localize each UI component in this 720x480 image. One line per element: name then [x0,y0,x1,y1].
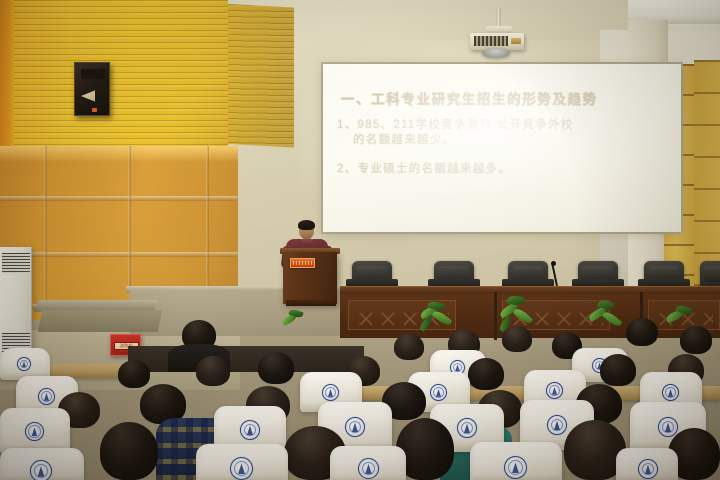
slide-bullet-1: 1、985、211学校竞争激烈,公开竞争外校 的名额越来越少。 [337,118,677,148]
wall-speaker [74,62,110,116]
university-logo-icon [25,422,44,441]
audience-head [468,358,504,390]
podium-nameplate-text [293,261,312,265]
speaker-led-icon [92,108,97,112]
university-logo-icon [662,384,679,401]
microphone-icon [551,261,556,266]
speaker-cone-icon [81,89,95,103]
university-logo-icon [230,457,253,480]
audience-head [502,326,532,352]
slide-title: 一、工科专业研究生招生的形势及趋势 [341,88,671,108]
potted-plant [418,300,454,336]
audience-head [258,352,294,384]
stage-riser [38,310,163,332]
podium-base [286,300,336,306]
university-logo-icon [38,388,55,405]
audience-head [680,326,712,354]
plant-leaf [513,306,533,325]
plant-leaf [432,309,453,328]
audience-head [394,334,424,360]
university-logo-icon [547,415,567,435]
projection-screen: 一、工科专业研究生招生的形势及趋势 1、985、211学校竞争激烈,公开竞争外校… [323,64,681,232]
panel-seam [0,196,238,201]
projector-lens-icon [482,48,510,58]
potted-plant [586,300,626,338]
university-logo-icon [322,384,339,401]
university-logo-icon [30,460,52,480]
audience-chair[interactable] [330,446,406,480]
audience-head [196,356,230,386]
audience-head [118,360,150,388]
wall-cove-light [0,146,238,162]
panel-seam [0,252,238,257]
slat-wall [0,0,228,152]
university-logo-icon [358,458,379,479]
university-logo-icon [17,357,31,371]
ac-vent-icon [2,253,30,273]
potted-plant [280,308,310,338]
lecture-hall-photo: 一、工科专业研究生招生的形势及趋势 1、985、211学校竞争激烈,公开竞争外校… [0,0,720,480]
university-logo-icon [457,418,477,438]
slat-wall-receding [228,4,294,147]
slat-wall-edge [0,0,14,152]
audience-head [100,422,158,480]
head-table-chair [700,261,720,287]
university-logo-icon [504,456,527,479]
air-conditioner-unit [0,247,32,357]
audience-chair[interactable] [196,444,288,480]
audience-chair[interactable] [470,442,562,480]
slide-bullet-2: 2、专业硕士的名额越来越多。 [337,160,677,176]
university-logo-icon [546,382,563,399]
audience-head [626,318,658,346]
university-logo-icon [240,420,260,440]
plant-leaf [602,310,622,329]
university-logo-icon [345,417,365,437]
speaker-grill-icon [81,69,105,79]
audience-chair[interactable] [0,448,84,480]
presenter-hair [298,220,315,230]
university-logo-icon [658,417,678,437]
audience-head [600,354,636,386]
slide-bullet-1-line-b: 的名额越来越少。 [337,133,677,148]
podium-nameplate [290,258,315,268]
plant-leaf [418,315,434,332]
audience-chair[interactable] [616,448,678,480]
university-logo-icon [638,459,658,479]
projector-vents-icon [474,36,508,46]
slide-bullet-1-line-a: 1、985、211学校竞争激烈,公开竞争外校 [337,119,574,131]
university-logo-icon [430,384,447,401]
bench-desk [128,346,364,372]
projector-panel-icon [511,38,521,44]
